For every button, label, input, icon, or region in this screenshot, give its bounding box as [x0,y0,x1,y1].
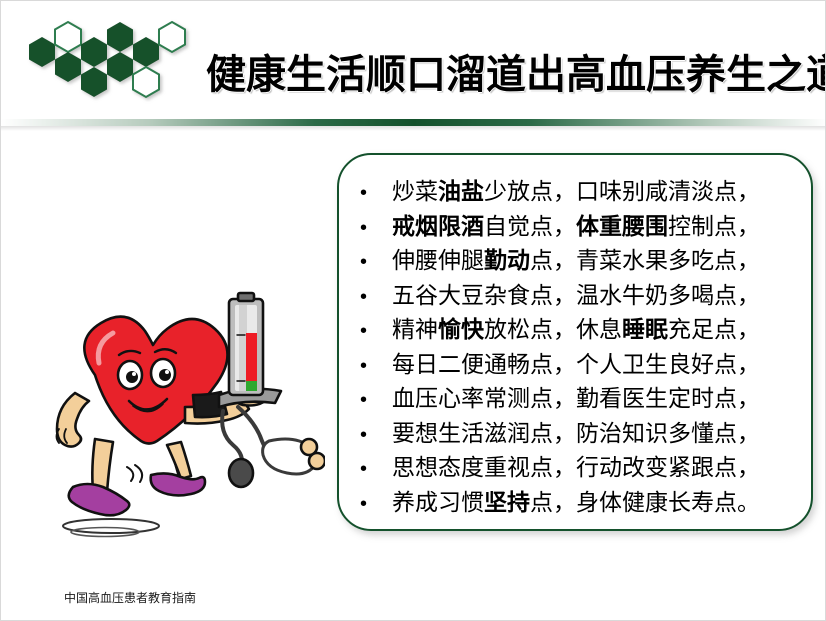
list-item-label: 精神愉快放松点，休息睡眠充足点， [392,312,760,347]
list-item-label: 养成习惯坚持点，身体健康长寿点。 [392,485,760,520]
list-item: •要想生活滋润点，防治知识多懂点， [339,416,815,451]
bullet-icon: • [360,418,392,453]
list-item-label: 思想态度重视点，行动改变紧跟点， [392,450,760,485]
list-item-label: 五谷大豆杂食点，温水牛奶多喝点， [392,278,760,313]
list-item: •炒菜油盐少放点，口味别咸清淡点， [339,174,815,209]
list-item-label: 炒菜油盐少放点，口味别咸清淡点， [392,174,760,209]
source-note: 中国高血压患者教育指南 [64,589,196,606]
list-item: •戒烟限酒自觉点，体重腰围控制点， [339,209,815,244]
heart-character-with-sphygmomanometer-icon [33,289,325,551]
list-item: •血压心率常测点，勤看医生定时点， [339,381,815,416]
hexagon-cluster-logo-icon [15,19,195,111]
header-divider-shadow [1,126,826,131]
list-item: •养成习惯坚持点，身体健康长寿点。 [339,485,815,520]
page-title: 健康生活顺口溜道出高血压养生之道 [206,45,806,105]
list-item-label: 戒烟限酒自觉点，体重腰围控制点， [392,209,760,244]
bullet-icon: • [360,245,392,280]
bullet-icon: • [360,349,392,384]
bullet-icon: • [360,487,392,522]
header-divider-rule [1,119,826,126]
list-item: •每日二便通畅点，个人卫生良好点， [339,347,815,382]
list-item-label: 每日二便通畅点，个人卫生良好点， [392,347,760,382]
bullet-icon: • [360,211,392,246]
list-item: •五谷大豆杂食点，温水牛奶多喝点， [339,278,815,313]
list-item: •伸腰伸腿勤动点，青菜水果多吃点， [339,243,815,278]
bullet-icon: • [360,383,392,418]
list-item-label: 要想生活滋润点，防治知识多懂点， [392,416,760,451]
slide-header: 健康生活顺口溜道出高血压养生之道 [1,1,826,119]
list-item: •思想态度重视点，行动改变紧跟点， [339,450,815,485]
bullet-icon: • [360,280,392,315]
list-item-label: 血压心率常测点，勤看医生定时点， [392,381,760,416]
list-item: •精神愉快放松点，休息睡眠充足点， [339,312,815,347]
bullet-icon: • [360,176,392,211]
health-tips-panel: •炒菜油盐少放点，口味别咸清淡点，•戒烟限酒自觉点，体重腰围控制点，•伸腰伸腿勤… [337,153,813,531]
list-item-label: 伸腰伸腿勤动点，青菜水果多吃点， [392,243,760,278]
bullet-icon: • [360,314,392,349]
slide-canvas: 健康生活顺口溜道出高血压养生之道 [0,0,826,621]
health-tips-list: •炒菜油盐少放点，口味别咸清淡点，•戒烟限酒自觉点，体重腰围控制点，•伸腰伸腿勤… [339,174,815,519]
bullet-icon: • [360,452,392,487]
